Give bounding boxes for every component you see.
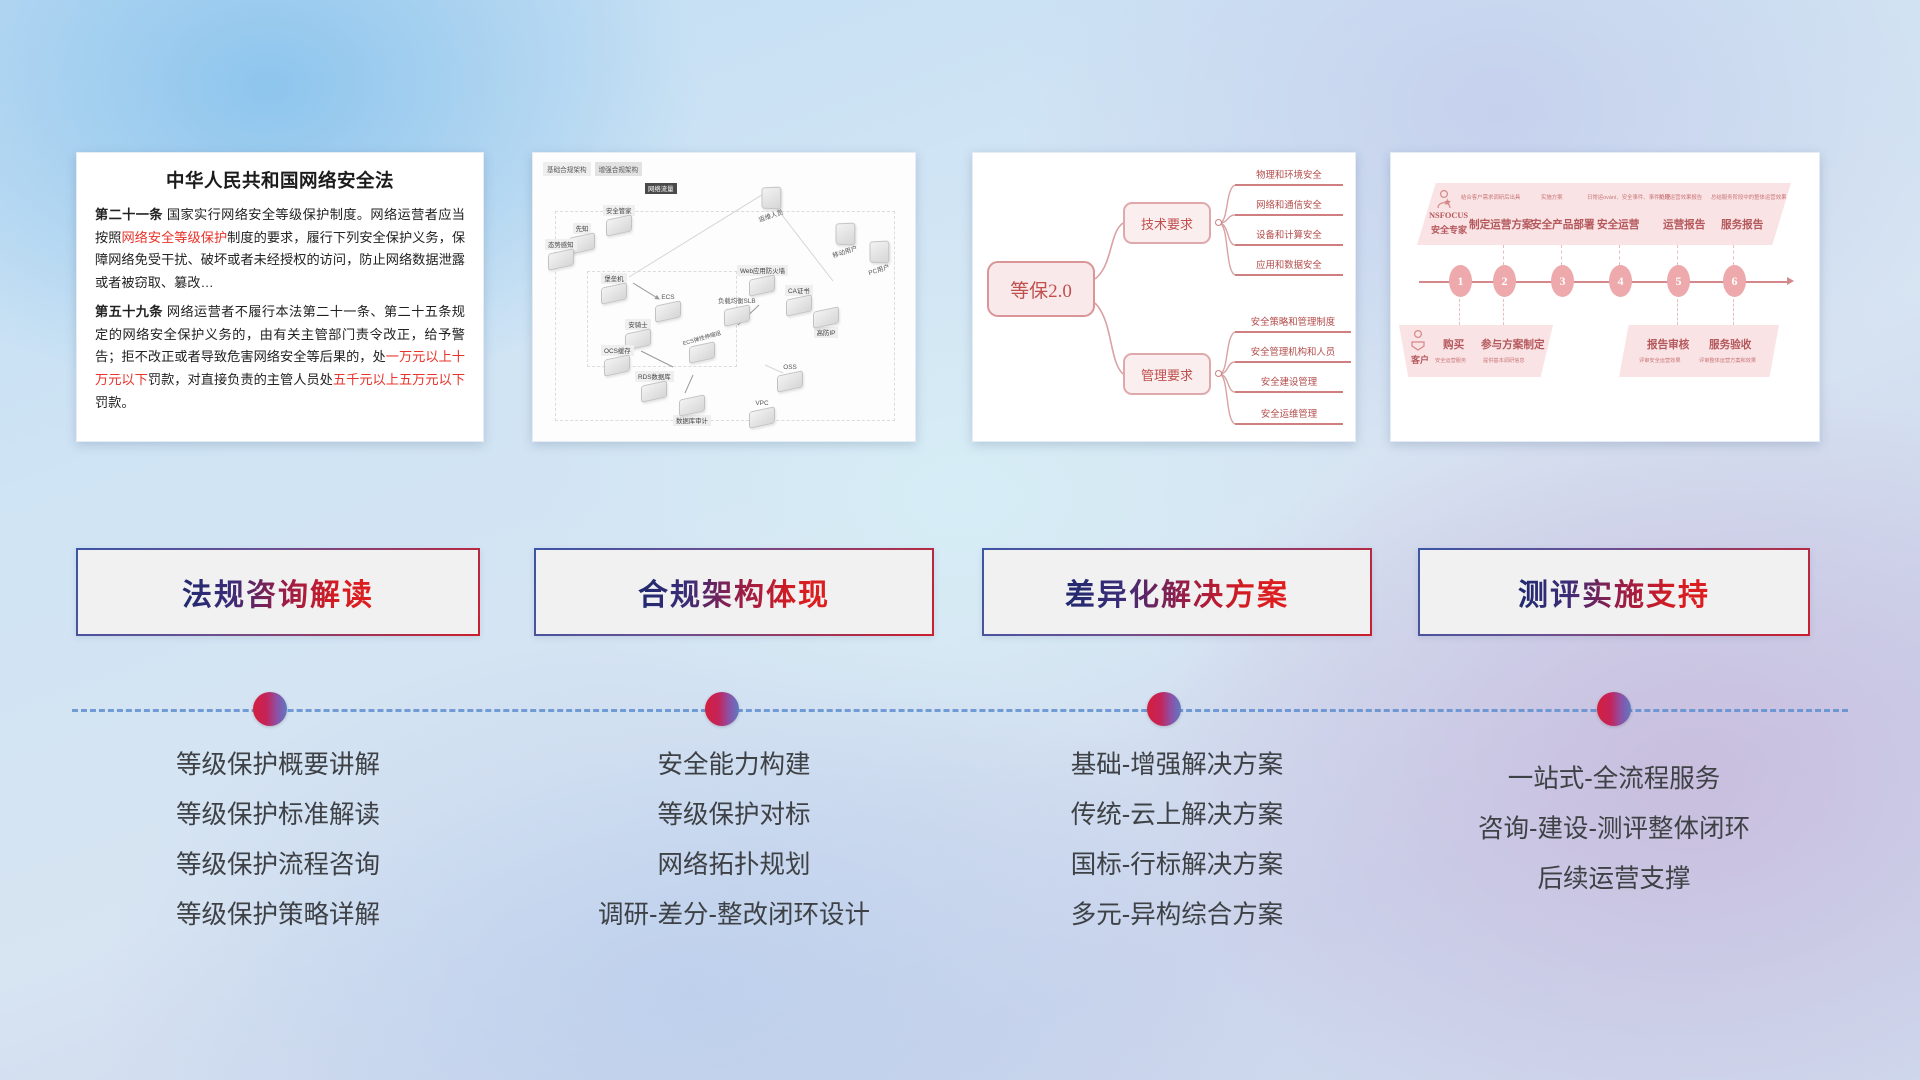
roadmap-bottom-sub: 提供基本调研信息 bbox=[1483, 357, 1525, 364]
mindmap-root-node[interactable]: 等保2.0 bbox=[987, 261, 1095, 317]
list-item: 网络拓扑规划 bbox=[534, 840, 934, 890]
roadmap-arrow-icon bbox=[1787, 277, 1794, 285]
mindmap-leaf[interactable]: 应用和数据安全 bbox=[1235, 261, 1343, 276]
list-item: 多元-异构综合方案 bbox=[982, 890, 1372, 940]
list-item: 调研-差分-整改闭环设计 bbox=[534, 890, 934, 940]
law-run-highlight: 五千元以上五万元以下 bbox=[333, 372, 465, 387]
list-item: 安全能力构建 bbox=[534, 740, 934, 790]
list-item: 传统-云上解决方案 bbox=[982, 790, 1372, 840]
roadmap-step-2[interactable]: 2 bbox=[1493, 265, 1516, 297]
list-item: 等级保护流程咨询 bbox=[76, 840, 480, 890]
arch-node-rds-database: RDS数据库 bbox=[635, 371, 674, 400]
heading-label: 法规咨询解读 bbox=[182, 570, 374, 614]
roadmap-canvas: NSFOCUS 安全专家 客户 结合客户需求调研后出具 制定运营方案 实施方案 … bbox=[1391, 153, 1819, 441]
mindmap-leaf[interactable]: 安全管理机构和人员 bbox=[1235, 348, 1351, 363]
arch-node-oss: OSS bbox=[777, 363, 803, 390]
roadmap-connector bbox=[1677, 245, 1678, 265]
arch-node-security-housekeeper: 安全管家 bbox=[603, 205, 635, 234]
roadmap-step-3[interactable]: 3 bbox=[1551, 265, 1574, 297]
timeline-dashed-line bbox=[72, 709, 1848, 712]
card-law-document[interactable]: 中华人民共和国网络安全法 第二十一条 国家实行网络安全等级保护制度。网络运营者应… bbox=[76, 152, 484, 442]
roadmap-connector bbox=[1459, 299, 1460, 325]
law-run: 罚款。 bbox=[95, 395, 135, 410]
heading-label: 合规架构体现 bbox=[638, 570, 830, 614]
mindmap-branch-technical[interactable]: 技术要求 bbox=[1123, 202, 1211, 244]
mindmap-leaf[interactable]: 网络和通信安全 bbox=[1235, 201, 1343, 216]
roadmap-actor-customer: 客户 bbox=[1411, 353, 1429, 366]
arch-node-bastion-host: 堡垒机 bbox=[601, 273, 627, 302]
list-item: 基础-增强解决方案 bbox=[982, 740, 1372, 790]
card-architecture-diagram[interactable]: 基础合规架构 增强合规架构 网络流量 安全管家 bbox=[532, 152, 916, 442]
list-item: 咨询-建设-测评整体闭环 bbox=[1418, 804, 1810, 854]
law-paragraph: 第五十九条 网络运营者不履行本法第二十一条、第二十五条规定的网络安全保护义务的，… bbox=[95, 301, 465, 415]
arch-node-waf: Web应用防火墙 bbox=[737, 265, 788, 294]
list-item: 后续运营支撑 bbox=[1418, 854, 1810, 904]
roadmap-band-customer-right bbox=[1619, 325, 1779, 377]
roadmap-connector bbox=[1733, 299, 1734, 325]
mindmap-leaf[interactable]: 安全策略和管理制度 bbox=[1235, 318, 1351, 333]
roadmap-step-4[interactable]: 4 bbox=[1609, 265, 1632, 297]
roadmap-top-sub: 实施方案 bbox=[1541, 193, 1563, 201]
roadmap-step-6[interactable]: 6 bbox=[1723, 265, 1746, 297]
roadmap-connector bbox=[1503, 299, 1504, 325]
law-run: 罚款，对直接负责的主管人员处 bbox=[148, 372, 333, 387]
mindmap-leaf[interactable]: 安全运维管理 bbox=[1235, 410, 1343, 425]
customer-person-icon bbox=[1409, 329, 1427, 351]
roadmap-top-sub: 结合客户需求调研后出具 bbox=[1461, 193, 1520, 201]
roadmap-bottom-sub: 评审整体运营方案和效果 bbox=[1699, 357, 1756, 364]
law-run-highlight: 网络安全等级保护 bbox=[121, 230, 227, 245]
law-article-label: 第二十一条 bbox=[95, 207, 163, 222]
arch-node-slb: 负载均衡SLB bbox=[715, 295, 759, 324]
law-paragraph: 第二十一条 国家实行网络安全等级保护制度。网络运营者应当按照网络安全等级保护制度… bbox=[95, 204, 465, 295]
list-item: 一站式-全流程服务 bbox=[1418, 754, 1810, 804]
roadmap-connector bbox=[1733, 245, 1734, 265]
roadmap-bottom-main: 服务验收 bbox=[1709, 337, 1751, 352]
heading-label: 差异化解决方案 bbox=[1065, 570, 1289, 614]
roadmap-bottom-main: 购买 bbox=[1443, 337, 1464, 352]
roadmap-connector bbox=[1619, 245, 1620, 265]
feature-list-1: 等级保护概要讲解 等级保护标准解读 等级保护流程咨询 等级保护策略详解 bbox=[76, 740, 480, 940]
timeline-track bbox=[0, 690, 1920, 730]
mindmap-leaf[interactable]: 物理和环境安全 bbox=[1235, 171, 1343, 186]
roadmap-bottom-sub: 安全运营服务 bbox=[1435, 357, 1466, 364]
roadmap-bottom-main: 报告审核 bbox=[1647, 337, 1689, 352]
mindmap-collapse-knob-icon[interactable] bbox=[1215, 219, 1222, 226]
heading-label: 测评实施支持 bbox=[1518, 570, 1710, 614]
mindmap-leaf[interactable]: 安全建设管理 bbox=[1235, 378, 1343, 393]
mindmap-leaf[interactable]: 设备和计算安全 bbox=[1235, 231, 1343, 246]
law-title: 中华人民共和国网络安全法 bbox=[95, 167, 465, 193]
list-item: 等级保护标准解读 bbox=[76, 790, 480, 840]
roadmap-connector bbox=[1677, 299, 1678, 325]
mindmap-collapse-knob-icon[interactable] bbox=[1215, 370, 1222, 377]
mindmap-canvas: 等保2.0 技术要求 管理要求 物理和环境安全 网络和通信安全 设备和计算安全 … bbox=[973, 153, 1355, 441]
roadmap-actor-provider-line2: 安全专家 bbox=[1431, 223, 1467, 236]
arch-node-pc-user: PC用户 bbox=[865, 241, 893, 275]
roadmap-top-main: 运营报告 bbox=[1663, 217, 1705, 232]
roadmap-bottom-main: 参与方案制定 bbox=[1481, 337, 1545, 352]
roadmap-top-main: 制定运营方案 bbox=[1469, 217, 1533, 232]
feature-list-4: 一站式-全流程服务 咨询-建设-测评整体闭环 后续运营支撑 bbox=[1418, 754, 1810, 904]
arch-node-anti-ddos-ip: 高防IP bbox=[813, 309, 839, 338]
list-item: 国标-行标解决方案 bbox=[982, 840, 1372, 890]
card-mindmap[interactable]: 等保2.0 技术要求 管理要求 物理和环境安全 网络和通信安全 设备和计算安全 … bbox=[972, 152, 1356, 442]
arch-node-ca-certificate: CA证书 bbox=[785, 285, 813, 314]
arch-node-ocs-cache: OCS缓存 bbox=[601, 345, 634, 374]
arch-node-anqishi: 安骑士 bbox=[625, 319, 651, 348]
arch-node-vpc: VPC bbox=[749, 399, 775, 426]
roadmap-actor-provider-line1: NSFOCUS bbox=[1429, 211, 1468, 220]
heading-box-differentiated-solution[interactable]: 差异化解决方案 bbox=[982, 548, 1372, 636]
list-item: 等级保护对标 bbox=[534, 790, 934, 840]
preview-cards-row: 中华人民共和国网络安全法 第二十一条 国家实行网络安全等级保护制度。网络运营者应… bbox=[0, 152, 1920, 452]
roadmap-top-sub: 日常运ování、安全事件、事件处理 bbox=[1587, 193, 1670, 201]
roadmap-top-sub: 阶段运营效果报告 bbox=[1659, 193, 1702, 201]
timeline-dot-2[interactable] bbox=[705, 692, 739, 726]
roadmap-step-1[interactable]: 1 bbox=[1449, 265, 1472, 297]
heading-boxes-row: 法规咨询解读 合规架构体现 差异化解决方案 测评实施支持 bbox=[0, 548, 1920, 640]
arch-node-ops-staff: 运维人员 bbox=[755, 187, 787, 221]
timeline-dot-4[interactable] bbox=[1597, 692, 1631, 726]
roadmap-top-main: 安全产品部署 bbox=[1531, 217, 1595, 232]
feature-lists-row: 等级保护概要讲解 等级保护标准解读 等级保护流程咨询 等级保护策略详解 安全能力… bbox=[0, 740, 1920, 1000]
roadmap-connector bbox=[1561, 245, 1562, 265]
roadmap-bottom-sub: 评审安全运营效果 bbox=[1639, 357, 1681, 364]
law-document-body: 中华人民共和国网络安全法 第二十一条 国家实行网络安全等级保护制度。网络运营者应… bbox=[77, 153, 483, 428]
roadmap-top-sub: 总结服务阶段中的整体运营效果 bbox=[1711, 193, 1786, 201]
card-service-roadmap[interactable]: NSFOCUS 安全专家 客户 结合客户需求调研后出具 制定运营方案 实施方案 … bbox=[1390, 152, 1820, 442]
architecture-canvas: 基础合规架构 增强合规架构 网络流量 安全管家 bbox=[533, 153, 915, 441]
list-item: 等级保护概要讲解 bbox=[76, 740, 480, 790]
heading-box-assessment-support[interactable]: 测评实施支持 bbox=[1418, 548, 1810, 636]
law-article-label: 第五十九条 bbox=[95, 304, 163, 319]
feature-list-3: 基础-增强解决方案 传统-云上解决方案 国标-行标解决方案 多元-异构综合方案 bbox=[982, 740, 1372, 940]
heading-box-compliance-architecture[interactable]: 合规架构体现 bbox=[534, 548, 934, 636]
arch-node-mobile-user: 移动用户 bbox=[829, 223, 861, 257]
heading-box-regulation-consulting[interactable]: 法规咨询解读 bbox=[76, 548, 480, 636]
feature-list-2: 安全能力构建 等级保护对标 网络拓扑规划 调研-差分-整改闭环设计 bbox=[534, 740, 934, 940]
roadmap-top-main: 服务报告 bbox=[1721, 217, 1763, 232]
timeline-dot-3[interactable] bbox=[1147, 692, 1181, 726]
arch-node-network-traffic: 网络流量 bbox=[645, 183, 677, 195]
arch-node-situation-awareness: 态势感知 bbox=[545, 239, 577, 268]
arch-node-ecs: ECS bbox=[655, 293, 681, 320]
mindmap-branch-management[interactable]: 管理要求 bbox=[1123, 353, 1211, 395]
roadmap-step-5[interactable]: 5 bbox=[1667, 265, 1690, 297]
timeline-dot-1[interactable] bbox=[253, 692, 287, 726]
roadmap-top-main: 安全运营 bbox=[1597, 217, 1639, 232]
expert-person-icon bbox=[1435, 189, 1453, 209]
list-item: 等级保护策略详解 bbox=[76, 890, 480, 940]
arch-node-database-audit: 数据库审计 bbox=[673, 397, 711, 426]
arch-node-ecs-scaling-group: ECS弹性伸缩组 bbox=[679, 333, 724, 361]
roadmap-connector bbox=[1503, 245, 1504, 265]
